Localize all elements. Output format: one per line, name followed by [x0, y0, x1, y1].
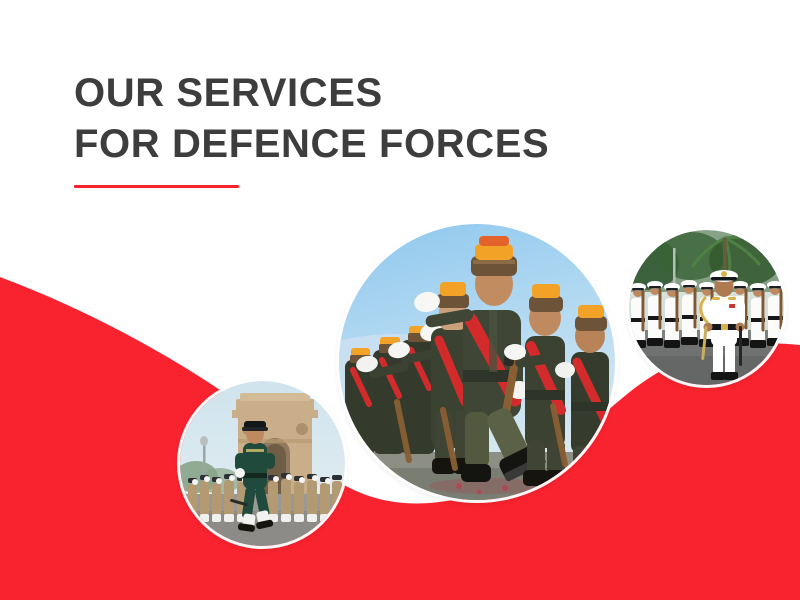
army-parade-illustration	[339, 224, 615, 500]
photo-circle-army-parade	[339, 224, 615, 500]
navy-guard-illustration	[629, 230, 784, 385]
photo-circle-republic-day-india-gate	[180, 381, 345, 546]
heading-line-1: OUR SERVICES	[74, 68, 549, 119]
slide-canvas: OUR SERVICES FOR DEFENCE FORCES	[0, 0, 800, 600]
title-underline-rule	[74, 185, 239, 188]
india-gate-parade-illustration	[180, 381, 345, 546]
heading-line-2: FOR DEFENCE FORCES	[74, 119, 549, 170]
photo-circle-navy-guard	[629, 230, 784, 385]
heading-block: OUR SERVICES FOR DEFENCE FORCES	[74, 68, 549, 188]
